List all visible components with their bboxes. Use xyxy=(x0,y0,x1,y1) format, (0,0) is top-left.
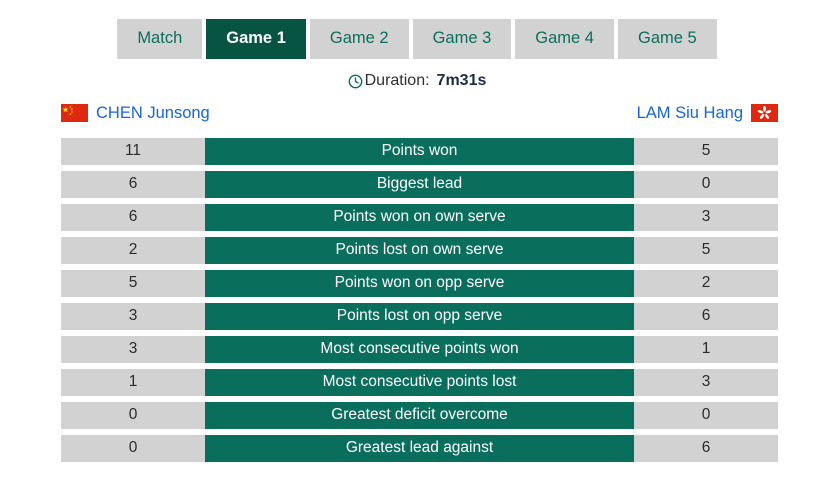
stat-value-left: 2 xyxy=(61,237,205,264)
stat-value-left: 5 xyxy=(61,270,205,297)
stat-row: 0Greatest lead against6 xyxy=(61,435,778,462)
stat-row: 3Points lost on opp serve6 xyxy=(61,303,778,330)
stat-label: Points lost on own serve xyxy=(205,237,634,264)
tab-game-4[interactable]: Game 4 xyxy=(515,19,614,59)
player-left: CHEN Junsong xyxy=(61,104,210,123)
stat-label: Most consecutive points lost xyxy=(205,369,634,396)
stat-row: 6Points won on own serve3 xyxy=(61,204,778,231)
player-left-name[interactable]: CHEN Junsong xyxy=(96,104,210,123)
stat-label: Biggest lead xyxy=(205,171,634,198)
player-right-name[interactable]: LAM Siu Hang xyxy=(637,104,743,123)
tab-match[interactable]: Match xyxy=(117,19,202,59)
stat-label: Points won xyxy=(205,138,634,165)
stat-row: 11Points won5 xyxy=(61,138,778,165)
game-tab-bar: MatchGame 1Game 2Game 3Game 4Game 5 xyxy=(0,0,834,59)
stat-value-left: 6 xyxy=(61,171,205,198)
stat-value-left: 0 xyxy=(61,402,205,429)
flag-hong-kong-icon xyxy=(751,104,778,122)
stat-value-right: 6 xyxy=(634,435,778,462)
stat-label: Greatest lead against xyxy=(205,435,634,462)
stat-value-left: 0 xyxy=(61,435,205,462)
stat-value-left: 11 xyxy=(61,138,205,165)
stat-value-left: 3 xyxy=(61,303,205,330)
stat-label: Points lost on opp serve xyxy=(205,303,634,330)
stat-value-right: 0 xyxy=(634,402,778,429)
stat-value-right: 5 xyxy=(634,237,778,264)
stat-label: Points won on own serve xyxy=(205,204,634,231)
stat-value-left: 1 xyxy=(61,369,205,396)
stat-value-left: 6 xyxy=(61,204,205,231)
stat-value-right: 1 xyxy=(634,336,778,363)
flag-china-icon xyxy=(61,104,88,122)
tab-game-1[interactable]: Game 1 xyxy=(206,19,306,59)
duration-value: 7m31s xyxy=(437,72,487,90)
stat-label: Most consecutive points won xyxy=(205,336,634,363)
clock-icon xyxy=(348,74,363,89)
duration-row: Duration: 7m31s xyxy=(0,72,834,90)
tab-game-2[interactable]: Game 2 xyxy=(310,19,409,59)
duration-label: Duration: xyxy=(365,72,430,90)
stat-value-right: 5 xyxy=(634,138,778,165)
stat-value-right: 2 xyxy=(634,270,778,297)
stat-value-right: 3 xyxy=(634,369,778,396)
stat-row: 2Points lost on own serve5 xyxy=(61,237,778,264)
stat-value-right: 0 xyxy=(634,171,778,198)
stat-value-left: 3 xyxy=(61,336,205,363)
tab-game-3[interactable]: Game 3 xyxy=(413,19,512,59)
game-statistics-panel: MatchGame 1Game 2Game 3Game 4Game 5 Dura… xyxy=(0,0,834,481)
statistics-table: 11Points won56Biggest lead06Points won o… xyxy=(0,138,834,462)
stat-label: Points won on opp serve xyxy=(205,270,634,297)
stat-row: 0Greatest deficit overcome0 xyxy=(61,402,778,429)
stat-row: 3Most consecutive points won1 xyxy=(61,336,778,363)
stat-value-right: 3 xyxy=(634,204,778,231)
tab-game-5[interactable]: Game 5 xyxy=(618,19,717,59)
players-row: CHEN Junsong LAM Siu Hang xyxy=(0,104,834,128)
stat-label: Greatest deficit overcome xyxy=(205,402,634,429)
stat-row: 6Biggest lead0 xyxy=(61,171,778,198)
stat-value-right: 6 xyxy=(634,303,778,330)
stat-row: 1Most consecutive points lost3 xyxy=(61,369,778,396)
player-right: LAM Siu Hang xyxy=(637,104,778,123)
stat-row: 5Points won on opp serve2 xyxy=(61,270,778,297)
